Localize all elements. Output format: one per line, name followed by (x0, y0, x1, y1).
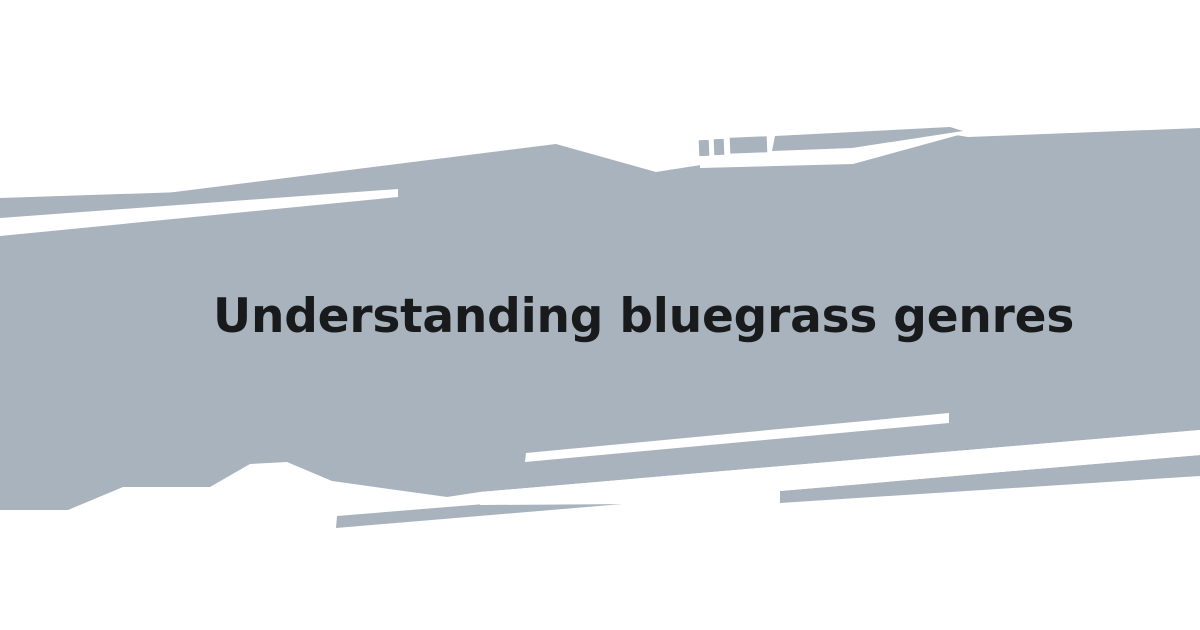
dash-small-2-icon (714, 139, 725, 155)
banner-canvas: Understanding bluegrass genres (0, 0, 1200, 630)
dash-small-1-icon (699, 140, 710, 156)
background-decoration (0, 0, 1200, 630)
dash-medium-icon (730, 136, 768, 153)
